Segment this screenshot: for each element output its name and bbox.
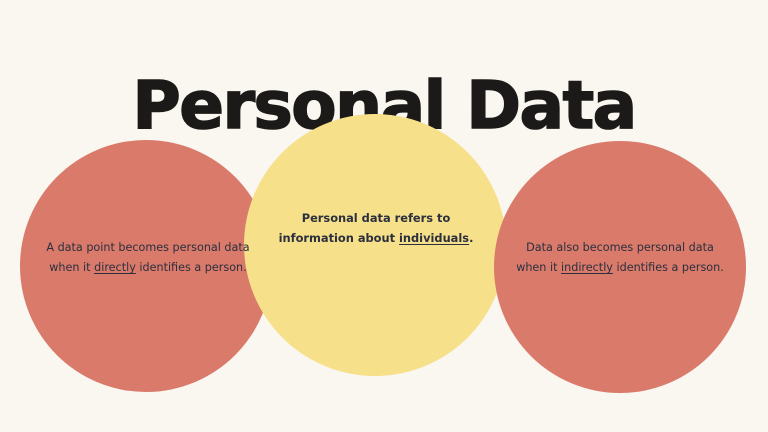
circle-right-text: Data also becomes personal data when it … [512,238,728,278]
keyword-directly: directly [94,261,136,274]
text-fragment-after: identifies a person. [136,261,247,274]
text-fragment-after: identifies a person. [613,261,724,274]
circle-center-text: Personal data refers to information abou… [278,208,474,248]
keyword-indirectly: indirectly [561,261,613,274]
text-fragment-after: . [469,231,473,245]
circle-left-text: A data point becomes personal data when … [44,238,252,278]
keyword-individuals: individuals [399,231,469,245]
slide-canvas: Personal Data A data point becomes perso… [0,0,768,432]
